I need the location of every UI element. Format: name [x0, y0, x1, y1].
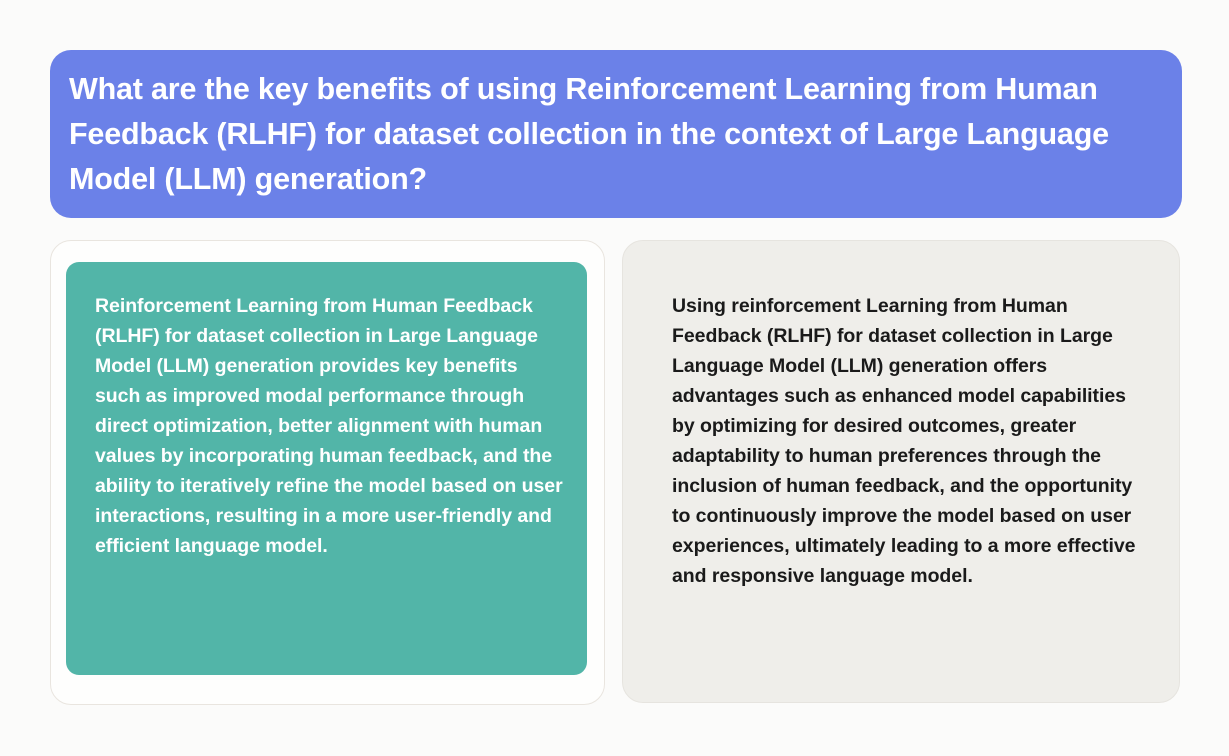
- response-card-right[interactable]: Using reinforcement Learning from Human …: [622, 240, 1180, 703]
- page-root: What are the key benefits of using Reinf…: [0, 0, 1229, 756]
- question-text: What are the key benefits of using Reinf…: [69, 67, 1152, 202]
- response-left-panel: Reinforcement Learning from Human Feedba…: [66, 262, 587, 675]
- question-banner: What are the key benefits of using Reinf…: [50, 50, 1182, 218]
- response-left-text: Reinforcement Learning from Human Feedba…: [95, 291, 565, 561]
- response-right-text: Using reinforcement Learning from Human …: [672, 291, 1153, 591]
- response-card-left[interactable]: Reinforcement Learning from Human Feedba…: [50, 240, 605, 705]
